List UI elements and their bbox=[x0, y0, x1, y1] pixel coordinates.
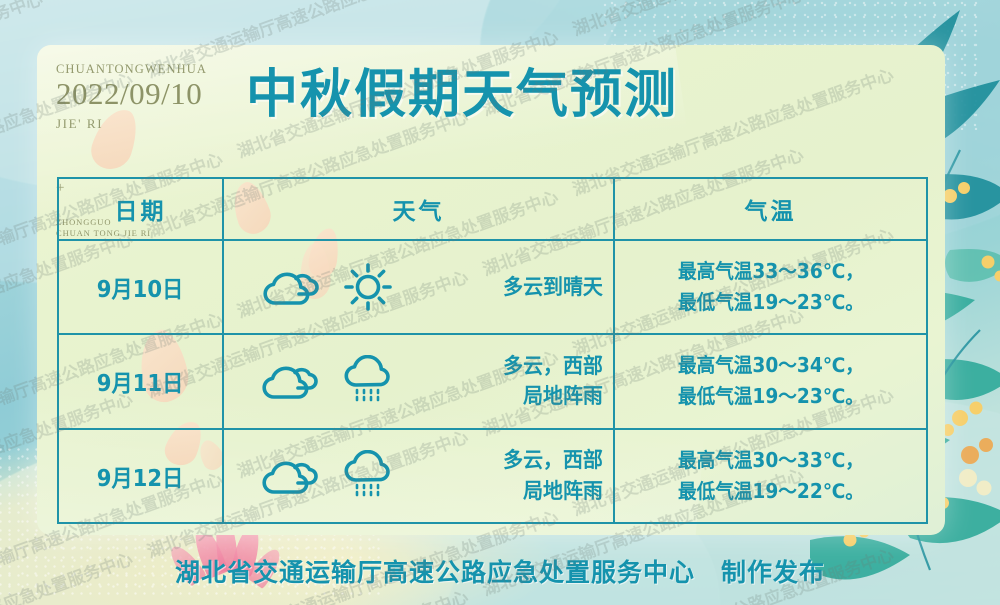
temp-line-low: 最低气温19～23℃。 bbox=[678, 287, 864, 318]
header-label-weather: 天气 bbox=[393, 192, 445, 226]
temp-line-high: 最高气温30～33℃， bbox=[678, 445, 864, 476]
weather-description: 多云到晴天 bbox=[440, 272, 608, 302]
weather-forecast-poster: CHUANTONGWENHUA 2022/09/10 JIE' RI + ZHO… bbox=[0, 0, 1000, 605]
weather-line: 多云，西部 bbox=[440, 445, 602, 475]
date-value: 9月11日 bbox=[97, 364, 183, 398]
weather-line: 局地阵雨 bbox=[440, 381, 602, 411]
weather-icon-group bbox=[232, 262, 422, 312]
rain-icon bbox=[342, 355, 394, 407]
pinyin-jieri: JIE' RI bbox=[56, 116, 246, 132]
temperature-text: 最高气温30～34℃， 最低气温19～23℃。 bbox=[678, 350, 864, 412]
header-label-temp: 气温 bbox=[745, 192, 797, 226]
temp-line-low: 最低气温19～23℃。 bbox=[678, 381, 864, 412]
header-label-date: 日期 bbox=[115, 192, 167, 226]
page-title: 中秋假期天气预测 bbox=[246, 62, 766, 128]
table-row: 9月11日 bbox=[59, 335, 926, 429]
table-row: 9月12日 bbox=[59, 430, 926, 522]
weather-icon-group bbox=[232, 450, 422, 502]
cell-temperature: 最高气温30～34℃， 最低气温19～23℃。 bbox=[615, 335, 926, 427]
header-cell-temp: 气温 bbox=[615, 179, 926, 239]
weather-line: 局地阵雨 bbox=[440, 476, 602, 506]
cell-weather: 多云到晴天 bbox=[224, 241, 615, 333]
temp-line-low: 最低气温19～22℃。 bbox=[678, 476, 864, 507]
cell-weather: 多云，西部 局地阵雨 bbox=[224, 430, 615, 522]
weather-description: 多云，西部 局地阵雨 bbox=[440, 445, 608, 506]
cell-date: 9月12日 bbox=[59, 430, 224, 522]
cloud-sun-icon bbox=[261, 264, 323, 310]
table-row: 9月10日 bbox=[59, 241, 926, 335]
cell-temperature: 最高气温33～36℃， 最低气温19～23℃。 bbox=[615, 241, 926, 333]
weather-line: 多云到晴天 bbox=[440, 272, 602, 302]
sun-icon bbox=[343, 262, 393, 312]
cell-weather: 多云，西部 局地阵雨 bbox=[224, 335, 615, 427]
table-header-row: 日期 天气 气温 bbox=[59, 179, 926, 241]
pinyin-top: CHUANTONGWENHUA bbox=[56, 62, 246, 77]
cloud-sun-icon bbox=[260, 358, 322, 404]
weather-line: 多云，西部 bbox=[440, 351, 602, 381]
temperature-text: 最高气温33～36℃， 最低气温19～23℃。 bbox=[678, 256, 864, 318]
temp-line-high: 最高气温33～36℃， bbox=[678, 256, 864, 287]
footer-credit: 湖北省交通运输厅高速公路应急处置服务中心 制作发布 bbox=[0, 553, 1000, 589]
cloud-sun-icon bbox=[260, 453, 322, 499]
header-cell-weather: 天气 bbox=[224, 179, 615, 239]
temp-line-high: 最高气温30～34℃， bbox=[678, 350, 864, 381]
weather-icon-group bbox=[232, 355, 422, 407]
temperature-text: 最高气温30～33℃， 最低气温19～22℃。 bbox=[678, 445, 864, 507]
cell-date: 9月11日 bbox=[59, 335, 224, 427]
forecast-table: 日期 天气 气温 9月10日 bbox=[57, 177, 928, 524]
cell-temperature: 最高气温30～33℃， 最低气温19～22℃。 bbox=[615, 430, 926, 522]
weather-description: 多云，西部 局地阵雨 bbox=[440, 351, 608, 412]
rain-icon bbox=[342, 450, 394, 502]
poster-date: 2022/09/10 bbox=[56, 78, 246, 109]
cell-date: 9月10日 bbox=[59, 241, 224, 333]
date-value: 9月12日 bbox=[97, 459, 183, 493]
header-cell-date: 日期 bbox=[59, 179, 224, 239]
date-value: 9月10日 bbox=[97, 270, 183, 304]
